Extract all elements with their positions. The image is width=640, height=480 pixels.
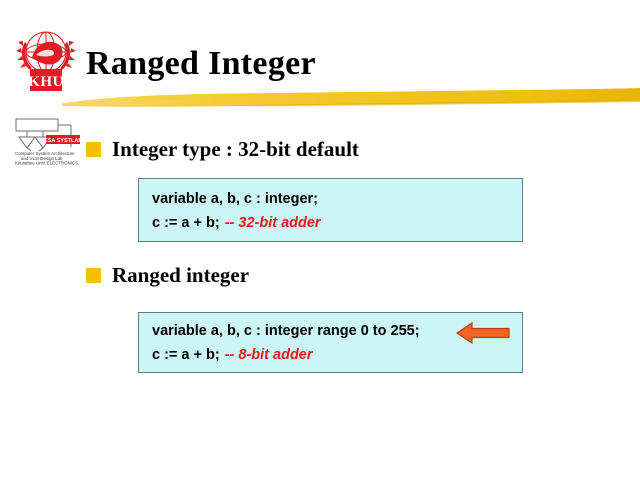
code-box-ranged-integer: variable a, b, c : integer range 0 to 25… <box>138 312 523 373</box>
code-line-declaration: variable a, b, c : integer; <box>152 192 318 207</box>
svg-text:CSA SYSTLAB: CSA SYSTLAB <box>44 138 83 144</box>
bullet-label: Ranged integer <box>112 265 249 286</box>
square-bullet-icon <box>86 142 101 157</box>
slide-canvas: KHU CSA SYSTLAB Computer System Architec… <box>0 0 640 480</box>
bullet-item-ranged-integer: Ranged integer <box>86 265 249 286</box>
code-text: c := a + b; <box>152 347 220 363</box>
code-line-declaration: variable a, b, c : integer range 0 to 25… <box>152 324 420 339</box>
svg-text:KHU: KHU <box>28 74 64 90</box>
code-text: c := a + b; <box>152 215 220 231</box>
code-line-assignment: c := a + b;-- 32-bit adder <box>152 216 321 231</box>
bullet-item-integer-type: Integer type : 32-bit default <box>86 139 359 160</box>
bullet-label: Integer type : 32-bit default <box>112 139 359 160</box>
code-line-assignment: c := a + b;-- 8-bit adder <box>152 348 313 363</box>
code-comment: -- 32-bit adder <box>225 215 321 231</box>
left-pointing-arrow-icon <box>455 321 511 345</box>
title-brush-rule <box>62 86 640 112</box>
lab-logo: CSA SYSTLAB Computer System Architecture… <box>13 117 91 165</box>
square-bullet-icon <box>86 268 101 283</box>
code-box-default-integer: variable a, b, c : integer; c := a + b;-… <box>138 178 523 242</box>
code-text: variable a, b, c : integer; <box>152 191 318 207</box>
svg-text:Kyunghee Univ. ELECTRONICS: Kyunghee Univ. ELECTRONICS <box>15 161 78 166</box>
code-comment: -- 8-bit adder <box>225 347 313 363</box>
page-title: Ranged Integer <box>86 47 316 81</box>
code-text: variable a, b, c : integer range 0 to 25… <box>152 323 420 339</box>
